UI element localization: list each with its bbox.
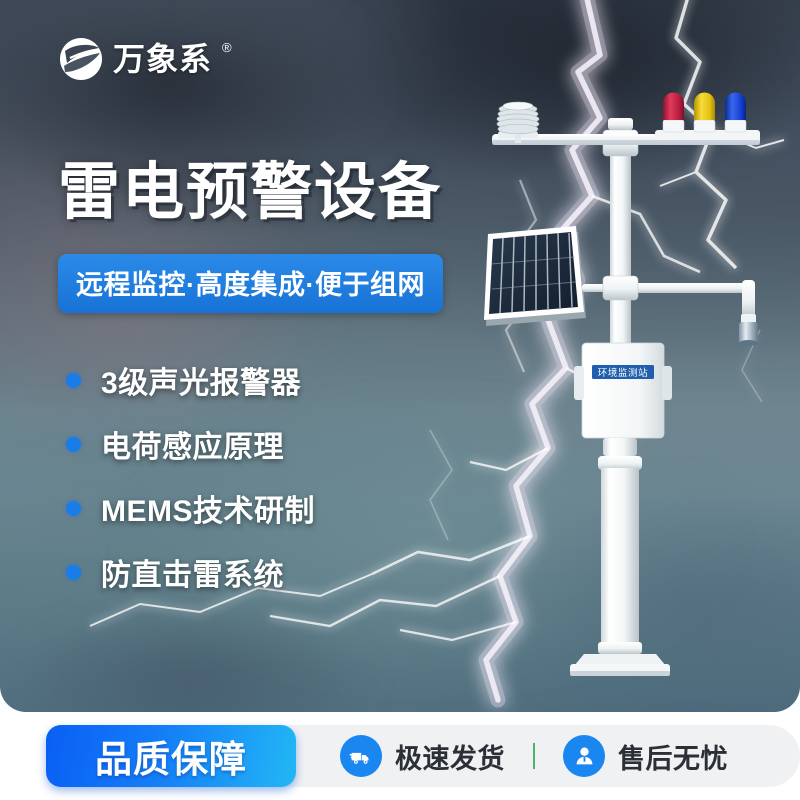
feature-label: 电荷感应原理: [101, 422, 284, 466]
sensor-arm: [625, 280, 758, 346]
list-item: 防直击雷系统: [66, 540, 315, 604]
subtitle-banner: 远程监控·高度集成·便于组网: [58, 254, 443, 313]
solar-panel: [484, 226, 616, 326]
alarm-light-cluster: [663, 93, 746, 133]
feature-label: 3级声光报警器: [101, 358, 301, 402]
after-sales-label: 售后无忧: [618, 737, 728, 776]
trademark-symbol: ®: [222, 40, 232, 55]
bullet-dot-icon: [66, 373, 81, 388]
after-sales-item[interactable]: 售后无忧: [563, 735, 728, 777]
control-box-label: 环境监测站: [598, 367, 649, 379]
feature-list: 3级声光报警器 电荷感应原理 MEMS技术研制 防直击雷系统: [66, 348, 315, 604]
brand-logo: 万象系 ®: [58, 36, 231, 82]
feature-label: MEMS技术研制: [101, 486, 315, 530]
lightning-warning-station-device: 环境监测站: [470, 90, 800, 690]
footer-divider: [533, 743, 535, 769]
quality-guarantee-badge[interactable]: 品质保障: [46, 725, 296, 787]
brand-name: 万象系: [113, 43, 212, 75]
badge-label: 品质保障: [95, 729, 247, 783]
list-item: 电荷感应原理: [66, 412, 315, 476]
leaf-circle-logo-icon: [58, 36, 104, 82]
control-box: 环境监测站: [574, 343, 672, 438]
feature-label: 防直击雷系统: [101, 550, 284, 594]
hero-background: 环境监测站 万象系 ®: [0, 0, 800, 712]
bullet-dot-icon: [66, 565, 81, 580]
bullet-dot-icon: [66, 437, 81, 452]
list-item: 3级声光报警器: [66, 348, 315, 412]
page-title: 雷电预警设备: [58, 160, 442, 225]
fast-shipping-label: 极速发货: [395, 737, 505, 776]
radiation-shield: [497, 102, 539, 143]
list-item: MEMS技术研制: [66, 476, 315, 540]
footer-bar: 品质保障 极速发货: [0, 712, 800, 800]
fast-shipping-item[interactable]: 极速发货: [340, 735, 505, 777]
bullet-dot-icon: [66, 501, 81, 516]
customer-service-person-icon: [563, 735, 605, 777]
promo-poster: 环境监测站 万象系 ®: [0, 0, 800, 800]
delivery-truck-icon: [340, 735, 382, 777]
